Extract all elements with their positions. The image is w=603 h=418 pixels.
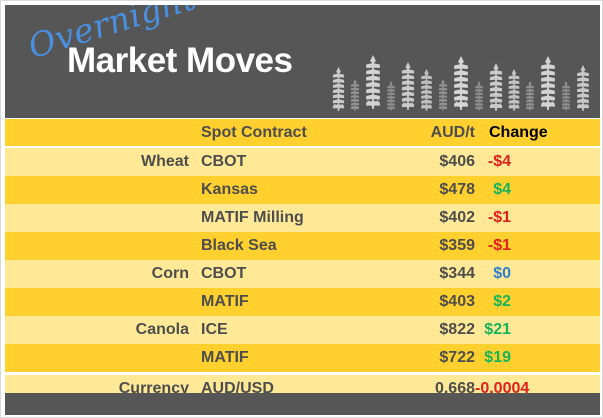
cell-change: $2: [475, 293, 593, 311]
column-header-price: AUD/t: [395, 124, 475, 142]
wheat-stalk-icon: [560, 81, 572, 111]
cell-price: $402: [395, 209, 475, 227]
cell-contract: MATIF: [195, 349, 395, 367]
market-table: Spot Contract AUD/t Change WheatCBOT$406…: [5, 119, 600, 403]
cell-price: $822: [395, 321, 475, 339]
column-header-change: Change: [475, 124, 593, 142]
cell-price: $403: [395, 293, 475, 311]
footer-banner: [5, 393, 600, 415]
cell-contract: MATIF Milling: [195, 209, 395, 227]
cell-contract: CBOT: [195, 265, 395, 283]
cell-commodity: Canola: [5, 321, 195, 339]
table-row: Kansas$478$4: [5, 176, 600, 204]
table-row: MATIF$722$19: [5, 344, 600, 372]
cell-price: $344: [395, 265, 475, 283]
cell-change: -$4: [475, 153, 593, 171]
page-title: Market Moves: [67, 41, 292, 81]
cell-price: $406: [395, 153, 475, 171]
cell-contract: Black Sea: [195, 237, 395, 255]
wheat-stalk-icon: [488, 63, 504, 111]
cell-change: -$1: [475, 237, 593, 255]
wheat-stalk-icon: [437, 79, 449, 111]
wheat-stalk-icon: [331, 67, 346, 111]
wheat-stalk-icon: [364, 53, 382, 111]
table-row: Black Sea$359-$1: [5, 232, 600, 260]
cell-commodity: Wheat: [5, 153, 195, 171]
cell-price: $359: [395, 237, 475, 255]
cell-change: -$1: [475, 209, 593, 227]
table-row: MATIF Milling$402-$1: [5, 204, 600, 232]
cell-contract: ICE: [195, 321, 395, 339]
cell-commodity: Corn: [5, 265, 195, 283]
cell-change: $19: [475, 349, 593, 367]
wheat-stalk-icon: [524, 81, 536, 111]
wheat-stalk-icon: [539, 55, 557, 111]
header-banner: Overnight Market Moves: [5, 5, 600, 118]
cell-price: $722: [395, 349, 475, 367]
wheat-stalk-icon: [385, 81, 397, 111]
wheat-stalk-icon: [507, 69, 521, 111]
cell-contract: MATIF: [195, 293, 395, 311]
wheat-stalk-icon: [473, 81, 485, 111]
column-header-contract: Spot Contract: [195, 124, 395, 142]
table-row: WheatCBOT$406-$4: [5, 148, 600, 176]
cell-contract: Kansas: [195, 181, 395, 199]
wheat-stalk-icon: [575, 65, 591, 111]
table-header-row: Spot Contract AUD/t Change: [5, 119, 600, 146]
wheat-decoration: [331, 49, 600, 111]
wheat-stalk-icon: [419, 69, 434, 111]
wheat-stalk-icon: [400, 61, 416, 111]
cell-price: $478: [395, 181, 475, 199]
table-row: CornCBOT$344$0: [5, 260, 600, 288]
cell-change: $0: [475, 265, 593, 283]
cell-change: $4: [475, 181, 593, 199]
cell-change: $21: [475, 321, 593, 339]
table-row: MATIF$403$2: [5, 288, 600, 316]
cell-contract: CBOT: [195, 153, 395, 171]
table-row: CanolaICE$822$21: [5, 316, 600, 344]
wheat-stalk-icon: [349, 79, 361, 111]
market-moves-card: Overnight Market Moves Spot Contract AUD…: [0, 0, 603, 418]
wheat-stalk-icon: [452, 55, 470, 111]
